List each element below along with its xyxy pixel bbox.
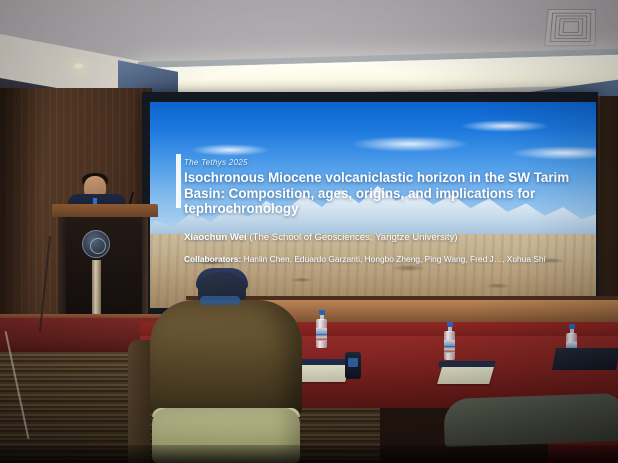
conference-room-photo: The Tethys 2025 Isochronous Miocene volc…	[0, 0, 618, 463]
handheld-device	[345, 352, 361, 379]
presenter-name: Xiaochun Wei	[184, 232, 247, 243]
title-accent-bar	[176, 154, 181, 208]
laptop	[552, 348, 618, 370]
water-bottle	[444, 322, 455, 360]
slide-presenter: Xiaochun Wei (The School of Geosciences,…	[184, 232, 584, 244]
left-wall-shadow	[0, 88, 40, 348]
bottle-label	[444, 340, 455, 353]
presenter-affiliation: (The School of Geosciences, Yangtze Univ…	[249, 232, 457, 243]
slide-title: Isochronous Miocene volcaniclastic horiz…	[184, 170, 584, 217]
downlight-icon	[72, 62, 85, 70]
podium-desktop	[52, 204, 158, 217]
water-bottle	[316, 310, 327, 348]
ceiling	[0, 0, 618, 102]
cloud	[350, 136, 470, 152]
slide-eyebrow: The Tethys 2025	[184, 158, 248, 167]
cloud	[460, 120, 550, 132]
draped-coat	[443, 393, 618, 447]
collaborators-label: Collaborators:	[184, 254, 241, 264]
collaborators-line-1: Hanlin Chen, Eduardo Garzanti, Hongbo Zh…	[244, 254, 468, 264]
slide-collaborators: Collaborators: Hanlin Chen, Eduardo Garz…	[184, 254, 594, 265]
air-vent-icon	[544, 9, 596, 46]
audience-member	[150, 300, 302, 420]
notepad	[437, 364, 495, 384]
cloud	[190, 144, 270, 156]
university-crest-icon	[82, 230, 110, 258]
collaborators-line-2: Fred J…, Xuhua Shi	[470, 254, 545, 264]
audience-collar	[200, 296, 240, 305]
bottom-shadow	[0, 445, 618, 463]
bottle-label	[316, 328, 327, 341]
